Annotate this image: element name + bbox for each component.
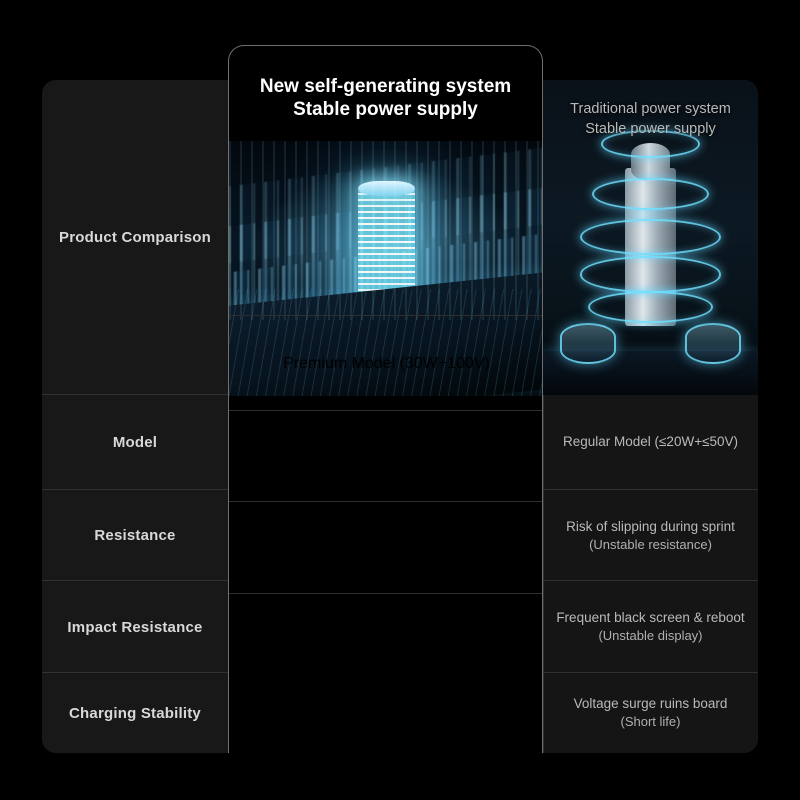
premium-title-line1: New self-generating system (229, 75, 542, 98)
traditional-column-title: Traditional power system Stable power su… (543, 100, 758, 139)
row-label-text: Impact Resistance (67, 619, 202, 636)
premium-highlight-impact: Stable power for long use. (229, 502, 543, 594)
premium-column-title: New self-generating system Stable power … (229, 75, 542, 121)
traditional-value-text: Voltage surge ruins board (566, 695, 736, 713)
traditional-title-line2: Stable power supply (543, 120, 758, 140)
row-label-model: Model (42, 395, 228, 490)
traditional-value-impact-resistance: Frequent black screen & reboot (Unstable… (543, 581, 758, 673)
traditional-value-subtext: (Unstable display) (598, 627, 702, 645)
row-label-text: Resistance (94, 527, 175, 544)
premium-highlight-resistance-text: 30W = 3× industry standard (288, 439, 485, 457)
traditional-value-subtext: (Unstable resistance) (589, 536, 712, 554)
traditional-value-resistance: Risk of slipping during sprint (Unstable… (543, 490, 758, 581)
row-label-text: Charging Stability (69, 705, 201, 722)
premium-highlight-model-text: Premium Model (30W+100V) (283, 355, 490, 373)
glow-ring (580, 256, 722, 292)
premium-column-highlight[interactable]: New self-generating system Stable power … (228, 45, 543, 753)
traditional-value-text: Frequent black screen & reboot (548, 609, 752, 627)
premium-highlight-impact-text: Stable power for long use. (294, 539, 480, 557)
traditional-title-line1: Traditional power system (543, 100, 758, 120)
premium-column-content: New self-generating system Stable power … (229, 46, 542, 753)
row-label-text: Model (113, 434, 157, 451)
traditional-value-subtext: (Short life) (621, 713, 681, 731)
row-label-impact-resistance: Impact Resistance (42, 581, 228, 673)
small-capacitor (685, 323, 741, 364)
premium-highlight-resistance: 30W = 3× industry standard (Strong power… (229, 411, 543, 502)
row-divider (229, 410, 543, 411)
small-capacitor (560, 323, 616, 364)
premium-highlight-model: Premium Model (30W+100V) (229, 316, 543, 411)
premium-highlight-charging-subtext: (10-Year like-new) (326, 635, 447, 652)
traditional-value-charging-stability: Voltage surge ruins board (Short life) (543, 673, 758, 753)
comparison-infographic: Product Comparison Traditional power sys… (0, 0, 800, 800)
premium-highlight-resistance-subtext: (Strong power) (334, 457, 440, 475)
row-divider (229, 593, 543, 594)
traditional-value-text: Regular Model (≤20W+≤50V) (555, 433, 746, 451)
glow-ring (592, 178, 708, 210)
row-label-resistance: Resistance (42, 490, 228, 581)
premium-highlight-charging-text: 95% capacity after 100,000 cycles (265, 617, 508, 635)
row-divider (229, 501, 543, 502)
traditional-value-text: Risk of slipping during sprint (558, 518, 743, 536)
column-divider-right (543, 395, 544, 753)
premium-highlight-charging: 95% capacity after 100,000 cycles (10-Ye… (229, 594, 543, 674)
row-label-charging-stability: Charging Stability (42, 673, 228, 753)
row-divider (229, 315, 543, 316)
glow-ring (588, 291, 713, 323)
row-label-text: Product Comparison (59, 229, 211, 246)
vertical-glow-overlay (229, 141, 543, 320)
row-label-product-comparison: Product Comparison (42, 80, 228, 395)
traditional-value-model: Regular Model (≤20W+≤50V) (543, 395, 758, 490)
glow-ring (580, 219, 722, 255)
premium-title-line2: Stable power supply (229, 98, 542, 121)
